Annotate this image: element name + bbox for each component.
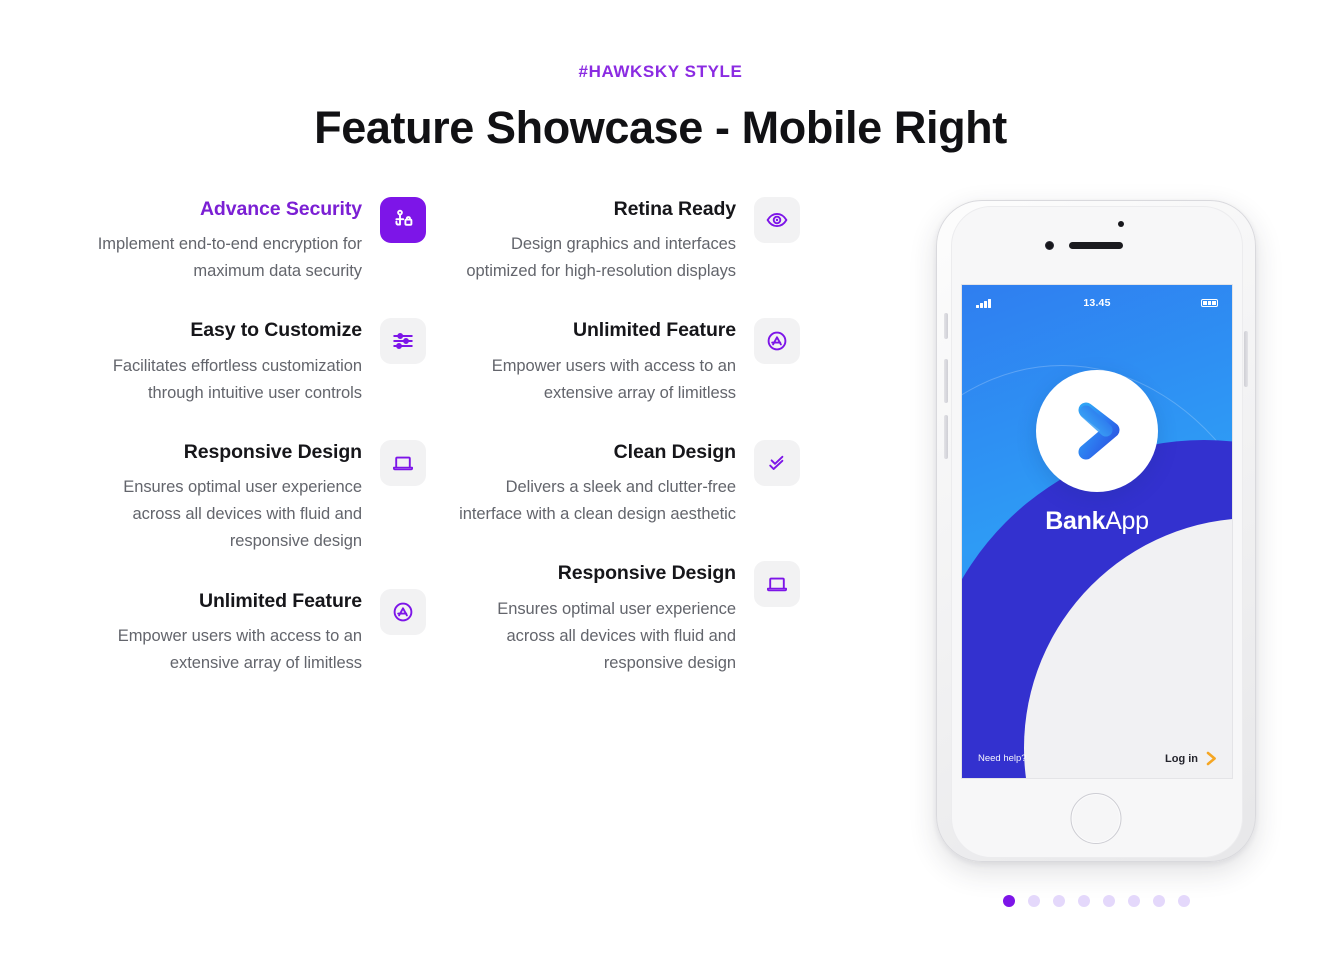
appstore-icon bbox=[754, 318, 800, 364]
laptop-icon bbox=[380, 440, 426, 486]
front-camera-icon bbox=[1045, 241, 1054, 250]
phone-mockup: 13.45 bbox=[926, 200, 1266, 865]
feature-item-responsive-design[interactable]: Responsive Design Ensures optimal user e… bbox=[78, 439, 426, 556]
page-title: Feature Showcase - Mobile Right bbox=[0, 102, 1321, 154]
feature-description: Empower users with access to an extensiv… bbox=[78, 623, 362, 677]
home-button[interactable] bbox=[1071, 793, 1122, 844]
feature-description: Ensures optimal user experience across a… bbox=[452, 596, 736, 677]
feature-title: Responsive Design bbox=[452, 562, 736, 585]
feature-text: Easy to Customize Facilitates effortless… bbox=[78, 317, 362, 406]
appstore-icon bbox=[380, 589, 426, 635]
feature-description: Design graphics and interfaces optimized… bbox=[452, 231, 736, 285]
feature-column-left: Advance Security Implement end-to-end en… bbox=[78, 196, 426, 677]
battery-icon bbox=[1184, 299, 1218, 308]
power-button[interactable] bbox=[1244, 331, 1248, 387]
double-check-icon bbox=[754, 440, 800, 486]
eyebrow-label: #HAWKSKY STYLE bbox=[0, 62, 1321, 82]
feature-item-clean-design[interactable]: Clean Design Delivers a sleek and clutte… bbox=[452, 439, 800, 528]
slide-canvas: #HAWKSKY STYLE Feature Showcase - Mobile… bbox=[0, 0, 1321, 955]
pagination-dot-6[interactable] bbox=[1128, 895, 1140, 907]
feature-description: Facilitates effortless customization thr… bbox=[78, 353, 362, 407]
chevron-logo-icon bbox=[1066, 400, 1128, 462]
feature-text: Responsive Design Ensures optimal user e… bbox=[452, 560, 736, 677]
feature-text: Retina Ready Design graphics and interfa… bbox=[452, 196, 736, 285]
pagination-dot-1[interactable] bbox=[1003, 895, 1015, 907]
feature-text: Unlimited Feature Empower users with acc… bbox=[78, 588, 362, 677]
feature-description: Ensures optimal user experience across a… bbox=[78, 474, 362, 555]
chevron-right-icon bbox=[1205, 751, 1218, 766]
pagination-dot-7[interactable] bbox=[1153, 895, 1165, 907]
pagination-dot-8[interactable] bbox=[1178, 895, 1190, 907]
feature-text: Responsive Design Ensures optimal user e… bbox=[78, 439, 362, 556]
proximity-sensor-icon bbox=[1118, 221, 1124, 227]
login-button[interactable]: Log in bbox=[1165, 751, 1218, 766]
laptop-icon bbox=[754, 561, 800, 607]
feature-title: Unlimited Feature bbox=[452, 319, 736, 342]
pagination-dot-2[interactable] bbox=[1028, 895, 1040, 907]
earpiece-speaker-icon bbox=[1069, 242, 1123, 249]
brand-bold-part: Bank bbox=[1045, 507, 1105, 535]
feature-description: Delivers a sleek and clutter-free interf… bbox=[452, 474, 736, 528]
pagination-dot-3[interactable] bbox=[1053, 895, 1065, 907]
app-brand-name: BankApp bbox=[962, 507, 1232, 536]
feature-title: Easy to Customize bbox=[78, 319, 362, 342]
sliders-icon bbox=[380, 318, 426, 364]
feature-item-retina-ready[interactable]: Retina Ready Design graphics and interfa… bbox=[452, 196, 800, 285]
volume-up-button[interactable] bbox=[944, 359, 948, 403]
feature-text: Advance Security Implement end-to-end en… bbox=[78, 196, 362, 285]
feature-item-unlimited-feature[interactable]: Unlimited Feature Empower users with acc… bbox=[452, 317, 800, 406]
mute-switch[interactable] bbox=[944, 313, 948, 339]
feature-text: Clean Design Delivers a sleek and clutte… bbox=[452, 439, 736, 528]
phone-screen: 13.45 bbox=[961, 284, 1233, 779]
feature-title: Responsive Design bbox=[78, 441, 362, 464]
login-label: Log in bbox=[1165, 753, 1198, 765]
feature-text: Unlimited Feature Empower users with acc… bbox=[452, 317, 736, 406]
pagination-dot-5[interactable] bbox=[1103, 895, 1115, 907]
header: #HAWKSKY STYLE Feature Showcase - Mobile… bbox=[0, 62, 1321, 154]
phone-body: 13.45 bbox=[936, 200, 1256, 862]
anchor-lock-icon bbox=[380, 197, 426, 243]
feature-description: Implement end-to-end encryption for maxi… bbox=[78, 231, 362, 285]
pagination-dot-4[interactable] bbox=[1078, 895, 1090, 907]
feature-title: Unlimited Feature bbox=[78, 590, 362, 613]
need-help-link[interactable]: Need help? bbox=[978, 753, 1027, 764]
feature-title: Advance Security bbox=[78, 198, 362, 221]
signal-bars-icon bbox=[976, 299, 1010, 308]
volume-down-button[interactable] bbox=[944, 415, 948, 459]
feature-item-advance-security[interactable]: Advance Security Implement end-to-end en… bbox=[78, 196, 426, 285]
status-bar-time: 13.45 bbox=[1010, 297, 1184, 309]
feature-title: Retina Ready bbox=[452, 198, 736, 221]
feature-column-right: Retina Ready Design graphics and interfa… bbox=[452, 196, 800, 677]
status-bar: 13.45 bbox=[962, 295, 1232, 311]
pagination-dots bbox=[926, 895, 1266, 907]
feature-item-responsive-design[interactable]: Responsive Design Ensures optimal user e… bbox=[452, 560, 800, 677]
feature-item-easy-to-customize[interactable]: Easy to Customize Facilitates effortless… bbox=[78, 317, 426, 406]
feature-title: Clean Design bbox=[452, 441, 736, 464]
eye-icon bbox=[754, 197, 800, 243]
brand-light-part: App bbox=[1105, 507, 1149, 535]
feature-item-unlimited-feature[interactable]: Unlimited Feature Empower users with acc… bbox=[78, 588, 426, 677]
app-logo-badge bbox=[1036, 370, 1158, 492]
feature-description: Empower users with access to an extensiv… bbox=[452, 353, 736, 407]
